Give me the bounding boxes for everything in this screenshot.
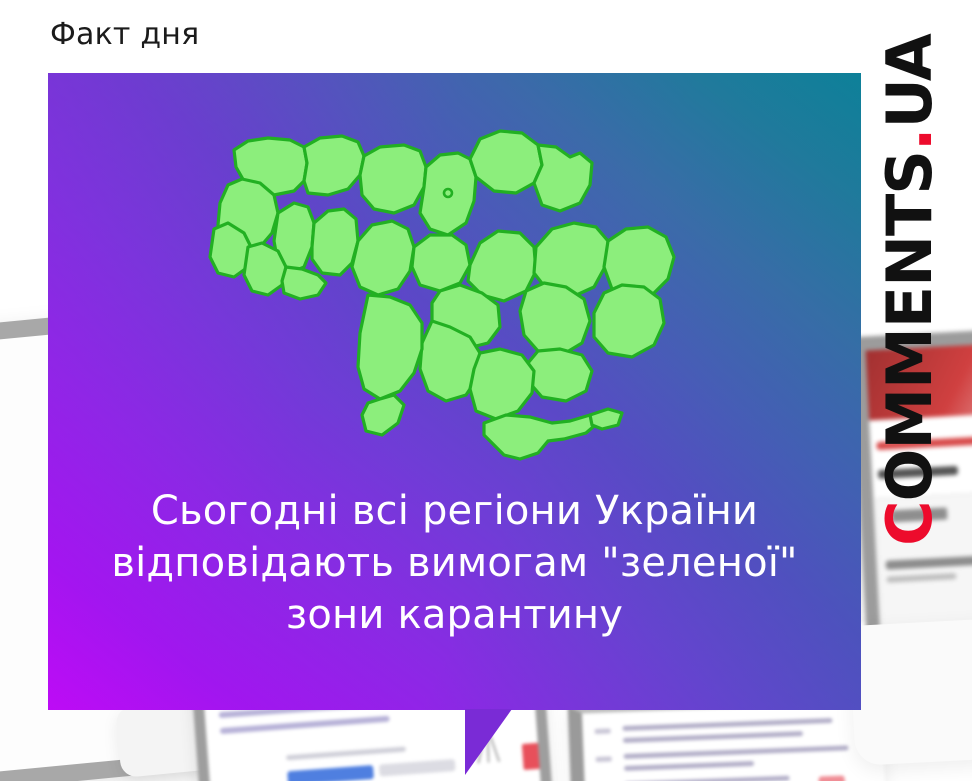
bg-text-line [286,747,406,761]
bg-list-line [622,718,832,731]
watermark-dot: . [873,129,946,152]
watermark-letter-c: C [873,501,946,546]
watermark-middle: OMMENTS [873,151,946,501]
bg-primary-button [287,765,374,781]
kyiv-city-marker [444,189,452,197]
bg-list-line [624,745,849,759]
bg-secondary-button [379,759,456,777]
bg-list-line [625,776,790,781]
watermark-suffix: UA [873,34,946,128]
bg-text-line [220,716,390,734]
fact-caption: Сьогодні всі регіони України відповідают… [48,485,861,641]
bg-ad-product-sub [886,573,956,583]
bg-list-line [623,731,803,743]
caption-line-1: Сьогодні всі регіони України [76,485,833,537]
speech-bubble-tail [465,709,512,775]
bg-list-timestamp [595,728,611,734]
comments-ua-watermark: COMMENTS.UA [874,80,946,500]
caption-line-3: зони карантину [76,589,833,641]
fact-of-the-day-card: Сьогодні всі регіони України відповідают… [48,73,861,710]
ukraine-map-icon [208,123,728,463]
page-title: Факт дня [50,17,199,53]
bg-list-line [624,761,754,771]
bg-pink-badge [819,775,846,781]
bg-red-badge [522,743,544,770]
caption-line-2: відповідають вимогам "зеленої" [76,537,833,589]
bg-list-timestamp [596,756,612,762]
bg-ad-product-name [886,556,972,570]
background-monitor-stand [848,614,972,766]
